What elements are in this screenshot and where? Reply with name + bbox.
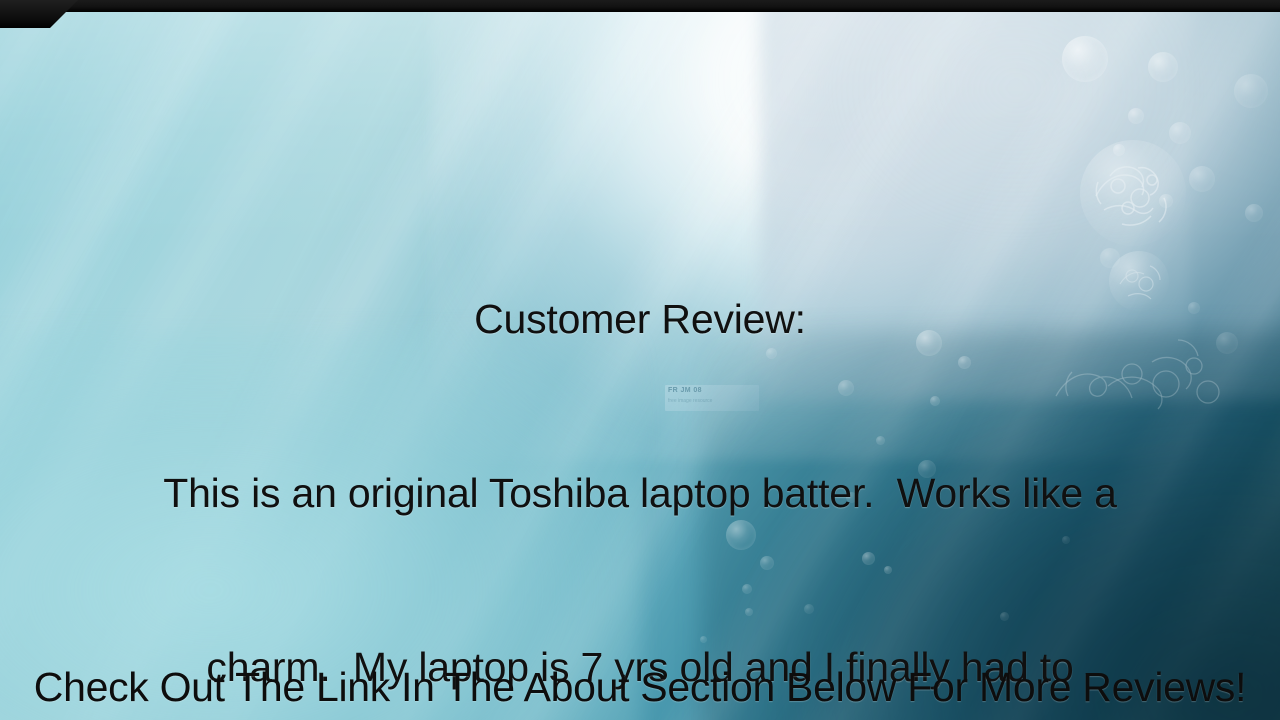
frame-bar [0, 0, 1280, 12]
review-caption: Customer Review: This is an original Tos… [0, 174, 1280, 720]
bubble-ornament [1128, 108, 1144, 124]
bubble-ornament [1062, 36, 1108, 82]
review-heading: Customer Review: [0, 290, 1280, 348]
bubble-ornament [1234, 74, 1268, 108]
bubble-ornament [1148, 52, 1178, 82]
review-line-1: This is an original Toshiba laptop batte… [0, 464, 1280, 522]
call-to-action-text: Check Out The Link In The About Section … [0, 663, 1280, 711]
video-slide: FR JM 08 free image resource Customer Re… [0, 0, 1280, 720]
